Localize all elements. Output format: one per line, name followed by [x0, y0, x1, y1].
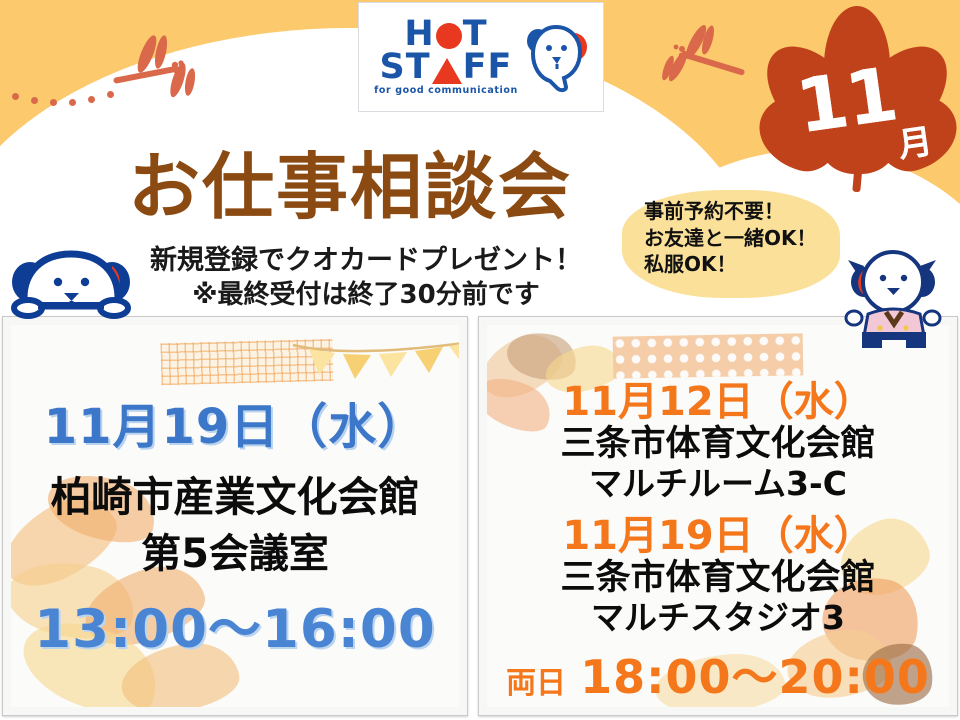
logo-letters-ff: FF — [463, 51, 513, 84]
logo-letter-t: T — [463, 18, 488, 51]
bubble-line-2: お友達と一緒OK！ — [644, 225, 854, 252]
logo-line-staff: ST FF — [380, 51, 513, 84]
month-badge-text: 11月 — [750, 0, 960, 207]
flyer-canvas: 11月 H T ST FF for good communication — [0, 0, 960, 720]
mascot-left-svg — [8, 246, 138, 324]
panel-left-room: 第5会議室 — [11, 521, 459, 579]
bunting-decoration — [291, 337, 459, 391]
panel-left-date: 11月19日（水） — [11, 387, 459, 457]
panel-left-venue: 柏崎市産業文化会館 — [11, 463, 459, 523]
dragonfly-trail-dots — [12, 86, 122, 106]
dragonfly-icon-2 — [650, 22, 760, 92]
page-title: お仕事相談会 — [0, 128, 700, 233]
logo-dog-mascot-icon — [526, 21, 588, 93]
bunting-svg — [291, 337, 459, 391]
panel-left-time: 13:00〜16:00 — [11, 587, 459, 663]
event-panel-sanjo[interactable]: 11月12日（水） 三条市体育文化会館 マルチルーム3-C 11月19日（水） … — [478, 316, 958, 716]
panel-right-time: 18:00〜20:00 — [580, 641, 930, 707]
logo-letter-h: H — [404, 18, 434, 51]
logo-tagline: for good communication — [374, 87, 518, 96]
panel-right-time-row: 両日 18:00〜20:00 — [487, 641, 949, 707]
panel-right-time-label: 両日 — [506, 658, 566, 702]
logo-triangle-a-icon — [432, 58, 462, 84]
panel-right-room-2: マルチスタジオ3 — [487, 591, 949, 639]
logo-line-hot: H T — [404, 18, 487, 51]
event-panel-kashiwazaki[interactable]: 11月19日（水） 柏崎市産業文化会館 第5会議室 13:00〜16:00 — [2, 316, 468, 716]
logo-dot-o-icon — [436, 23, 462, 49]
bubble-line-3: 私服OK！ — [644, 251, 854, 278]
month-badge: 11月 — [762, 4, 958, 194]
info-bubble-text: 事前予約不要！ お友達と一緒OK！ 私服OK！ — [644, 198, 854, 278]
dragonfly-right-svg — [650, 22, 760, 92]
month-number: 11 — [791, 51, 901, 150]
logo-dog-svg — [526, 21, 588, 93]
subtitle-block: 新規登録でクオカードプレゼント！ ※最終受付は終了30分前です — [96, 244, 636, 312]
panel-right-inner: 11月12日（水） 三条市体育文化会館 マルチルーム3-C 11月19日（水） … — [487, 325, 949, 707]
panel-left-inner: 11月19日（水） 柏崎市産業文化会館 第5会議室 13:00〜16:00 — [11, 325, 459, 707]
dog-peeking-mascot-icon — [8, 246, 138, 324]
hot-staff-logo: H T ST FF for good communication — [358, 2, 604, 112]
dog-overalls-mascot-icon — [838, 244, 950, 354]
month-suffix: 月 — [895, 114, 934, 167]
panel-right-room-1: マルチルーム3-C — [487, 457, 949, 505]
logo-wordmark: H T ST FF for good communication — [374, 18, 518, 97]
mascot-right-svg — [838, 244, 950, 354]
subtitle-line-2: ※最終受付は終了30分前です — [96, 279, 636, 312]
logo-letters-st: ST — [380, 51, 431, 84]
subtitle-line-1: 新規登録でクオカードプレゼント！ — [96, 244, 636, 279]
bubble-line-1: 事前予約不要！ — [644, 198, 854, 225]
